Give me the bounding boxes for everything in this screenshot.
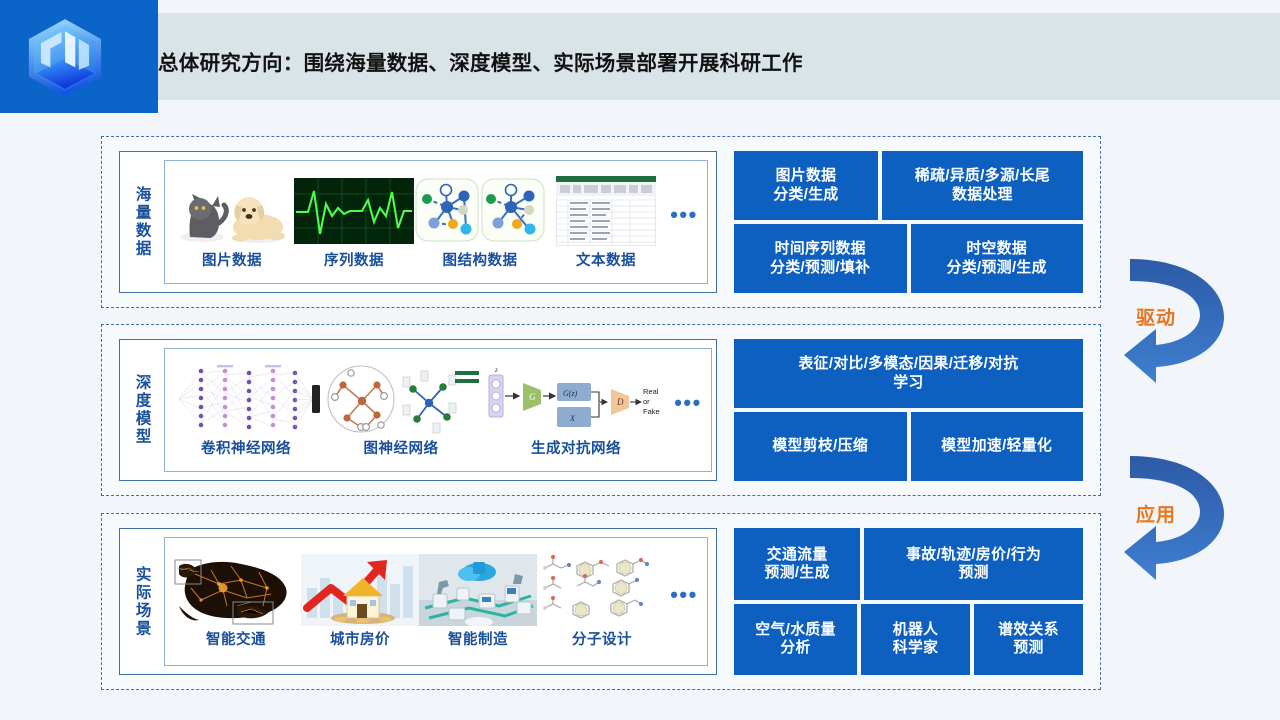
section-massive-data: 海量数据 — [101, 136, 1101, 308]
arrow-label: 应用 — [1120, 500, 1192, 527]
section-deep-models: 深度模型 — [101, 324, 1101, 496]
svg-text:or: or — [643, 397, 650, 406]
section-left-panel: 海量数据 — [119, 151, 717, 293]
section-real-scenarios: 实际场景 — [101, 513, 1101, 690]
smart-factory-photo — [419, 554, 537, 626]
thumb-label: 智能交通 — [206, 628, 266, 649]
tag-box[interactable]: 事故/轨迹/房价/行为 预测 — [864, 528, 1083, 600]
thumb-label: 智能制造 — [448, 628, 508, 649]
tag-box[interactable]: 谱效关系 预测 — [974, 604, 1083, 676]
svg-text:Fake: Fake — [643, 407, 660, 416]
molecule-structures — [537, 554, 667, 626]
drive-arrow: 驱动 — [1112, 243, 1262, 393]
section-vertical-label: 实际场景 — [120, 529, 164, 674]
green-waveform-ecg — [293, 175, 415, 247]
arrow-label: 驱动 — [1120, 303, 1192, 330]
thumb-item-gan[interactable]: z G — [481, 353, 671, 467]
more-ellipsis: ••• — [671, 390, 705, 430]
spreadsheet-table — [545, 175, 667, 247]
svg-text:G(z): G(z) — [563, 389, 578, 398]
page-title: 总体研究方向：围绕海量数据、深度模型、实际场景部署开展科研工作 — [158, 46, 803, 76]
thumb-label: 文本数据 — [576, 249, 636, 270]
tag-row: 模型剪枝/压缩 模型加速/轻量化 — [734, 412, 1083, 481]
tag-row: 时间序列数据 分类/预测/填补 时空数据 分类/预测/生成 — [734, 224, 1083, 293]
tag-box[interactable]: 模型加速/轻量化 — [911, 412, 1084, 481]
thumb-item-image-data[interactable]: 图片数据 — [171, 165, 293, 279]
tag-box[interactable]: 机器人 科学家 — [861, 604, 970, 676]
tag-group: 交通流量 预测/生成 事故/轨迹/房价/行为 预测 空气/水质量 分析 机器人 … — [734, 528, 1083, 675]
svg-text:z: z — [494, 366, 498, 374]
section-left-panel: 实际场景 — [119, 528, 717, 675]
cat-and-dog-photo — [171, 175, 293, 247]
tag-box[interactable]: 交通流量 预测/生成 — [734, 528, 860, 600]
section-vertical-label: 海量数据 — [120, 152, 164, 292]
house-price-arrow — [301, 554, 419, 626]
tag-box[interactable]: 时空数据 分类/预测/生成 — [911, 224, 1084, 293]
apply-arrow: 应用 — [1112, 440, 1262, 590]
more-ellipsis: ••• — [667, 202, 701, 242]
thumb-item-text-data[interactable]: 文本数据 — [545, 165, 667, 279]
tag-row: 表征/对比/多模态/因果/迁移/对抗 学习 — [734, 339, 1083, 408]
tag-row: 图片数据 分类/生成 稀疏/异质/多源/长尾 数据处理 — [734, 151, 1083, 220]
thumb-label: 生成对抗网络 — [531, 437, 621, 458]
thumb-item-graph-data[interactable]: 图结构数据 — [415, 165, 545, 279]
tag-box[interactable]: 模型剪枝/压缩 — [734, 412, 907, 481]
thumbnail-strip: 卷积神经网络 — [164, 348, 712, 472]
svg-text:Real: Real — [643, 387, 659, 396]
thumbnail-strip: 智能交通 — [164, 537, 708, 666]
svg-text:G: G — [529, 392, 536, 402]
tag-box[interactable]: 空气/水质量 分析 — [734, 604, 857, 676]
traffic-network-map — [171, 554, 301, 626]
more-ellipsis: ••• — [667, 582, 701, 622]
thumb-label: 图神经网络 — [364, 437, 439, 458]
thumb-label: 分子设计 — [572, 628, 632, 649]
section-vertical-label: 深度模型 — [120, 340, 164, 480]
slide-canvas: 总体研究方向：围绕海量数据、深度模型、实际场景部署开展科研工作 海量数据 — [0, 0, 1280, 720]
section-left-panel: 深度模型 — [119, 339, 717, 481]
thumb-label: 序列数据 — [324, 249, 384, 270]
tag-row: 交通流量 预测/生成 事故/轨迹/房价/行为 预测 — [734, 528, 1083, 600]
thumb-label: 图片数据 — [202, 249, 262, 270]
thumb-item-molecule-design[interactable]: 分子设计 — [537, 542, 667, 661]
hexagon-cube-logo — [22, 14, 108, 100]
thumb-item-cnn[interactable]: 卷积神经网络 — [171, 353, 321, 467]
tag-box[interactable]: 稀疏/异质/多源/长尾 数据处理 — [882, 151, 1083, 220]
thumb-item-sequence-data[interactable]: 序列数据 — [293, 165, 415, 279]
thumb-label: 图结构数据 — [443, 249, 518, 270]
tag-row: 空气/水质量 分析 机器人 科学家 谱效关系 预测 — [734, 604, 1083, 676]
thumb-label: 城市房价 — [330, 628, 390, 649]
gan-architecture: z G — [481, 363, 671, 435]
tag-box[interactable]: 时间序列数据 分类/预测/填补 — [734, 224, 907, 293]
graph-neural-network — [321, 363, 481, 435]
node-link-graphs — [415, 175, 545, 247]
thumb-item-gnn[interactable]: 图神经网络 — [321, 353, 481, 467]
tag-group: 表征/对比/多模态/因果/迁移/对抗 学习 模型剪枝/压缩 模型加速/轻量化 — [734, 339, 1083, 481]
tag-group: 图片数据 分类/生成 稀疏/异质/多源/长尾 数据处理 时间序列数据 分类/预测… — [734, 151, 1083, 293]
thumbnail-strip: 图片数据 — [164, 160, 708, 284]
tag-box[interactable]: 图片数据 分类/生成 — [734, 151, 878, 220]
thumb-label: 卷积神经网络 — [201, 437, 291, 458]
thumb-item-house-price[interactable]: 城市房价 — [301, 542, 419, 661]
thumb-item-smart-traffic[interactable]: 智能交通 — [171, 542, 301, 661]
svg-text:D: D — [616, 397, 624, 407]
multilayer-neural-network — [171, 363, 321, 435]
thumb-item-smart-manufacturing[interactable]: 智能制造 — [419, 542, 537, 661]
tag-box[interactable]: 表征/对比/多模态/因果/迁移/对抗 学习 — [734, 339, 1083, 408]
